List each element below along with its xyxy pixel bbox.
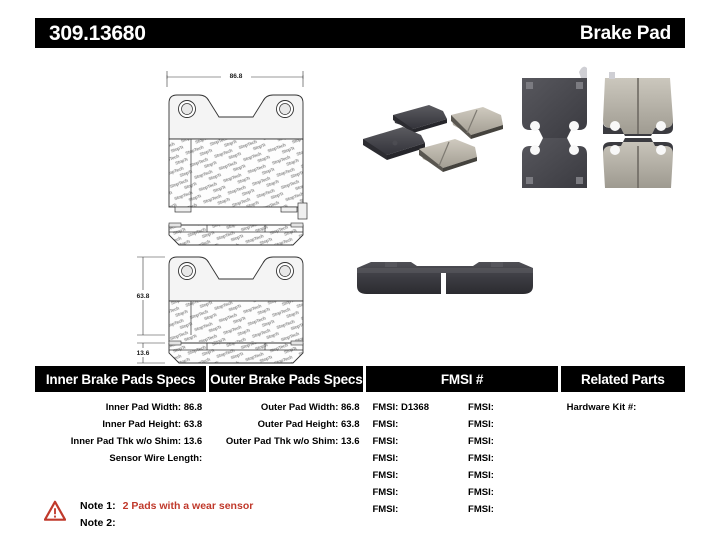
pad-edge-photo: [345, 242, 545, 322]
fmsi-row: FMSI:: [462, 399, 558, 416]
illustration-area: StopTech StopTech 86.8: [0, 52, 720, 352]
fmsi-row: FMSI:: [366, 467, 462, 484]
note-label: Note 2:: [80, 515, 116, 532]
inner-spec-row: Inner Pad Height: 63.8: [35, 416, 206, 433]
warning-triangle-icon: [44, 500, 66, 522]
fmsi-row: FMSI:: [462, 450, 558, 467]
fmsi-row: FMSI:: [366, 501, 462, 518]
fmsi-row: FMSI:: [462, 467, 558, 484]
column-header-related-parts: Related Parts: [561, 366, 685, 392]
related-parts-column: Hardware Kit #:: [561, 399, 685, 518]
outer-spec-row: Outer Pad Height: 63.8: [209, 416, 363, 433]
technical-drawings: StopTech StopTech 86.8: [95, 57, 325, 342]
fmsi-row: FMSI:: [366, 433, 462, 450]
pads-angled-photo: [355, 67, 515, 187]
fmsi-row: FMSI:: [462, 484, 558, 501]
header-bar: 309.13680 Brake Pad: [35, 18, 685, 48]
part-number: 309.13680: [49, 23, 146, 44]
outer-spec-row: Outer Pad Thk w/o Shim: 13.6: [209, 433, 363, 450]
edge-view-top: [169, 223, 303, 245]
inner-spec-row: Inner Pad Width: 86.8: [35, 399, 206, 416]
note-value: 2 Pads with a wear sensor: [123, 498, 254, 515]
fmsi-row: FMSI:: [462, 501, 558, 518]
specs-table: Inner Brake Pads Specs Outer Brake Pads …: [35, 366, 685, 518]
related-part-row: Hardware Kit #:: [561, 399, 685, 416]
fmsi-row: FMSI:: [462, 433, 558, 450]
page-title: Brake Pad: [580, 24, 671, 43]
notes-list: Note 1: 2 Pads with a wear sensor Note 2…: [80, 498, 253, 532]
note-label: Note 1:: [80, 498, 116, 515]
fmsi-subcolumn-right: FMSI: FMSI: FMSI: FMSI: FMSI: FMSI: FMSI…: [462, 399, 558, 518]
column-header-inner-specs: Inner Brake Pads Specs: [35, 366, 206, 392]
notes-area: Note 1: 2 Pads with a wear sensor Note 2…: [44, 498, 253, 532]
inner-spec-row: Sensor Wire Length:: [35, 450, 206, 467]
fmsi-column: FMSI: D1368 FMSI: FMSI: FMSI: FMSI: FMSI…: [366, 399, 557, 518]
inner-spec-row: Inner Pad Thk w/o Shim: 13.6: [35, 433, 206, 450]
fmsi-subcolumn-left: FMSI: D1368 FMSI: FMSI: FMSI: FMSI: FMSI…: [366, 399, 462, 518]
fmsi-row: FMSI:: [366, 484, 462, 501]
outer-spec-row: Outer Pad Width: 86.8: [209, 399, 363, 416]
column-header-fmsi: FMSI #: [366, 366, 557, 392]
pads-grid-photo: [505, 60, 695, 190]
fmsi-row: FMSI:: [366, 450, 462, 467]
dim-height-label: 63.8: [137, 293, 150, 300]
dim-thickness-label: 13.6: [137, 350, 150, 357]
fmsi-row: FMSI: D1368: [366, 399, 462, 416]
dim-width-label: 86.8: [230, 73, 243, 80]
note-item: Note 2:: [80, 515, 253, 532]
specs-table-header-row: Inner Brake Pads Specs Outer Brake Pads …: [35, 366, 685, 392]
front-view-top: 86.8: [167, 70, 307, 219]
column-header-outer-specs: Outer Brake Pads Specs: [209, 366, 363, 392]
fmsi-row: FMSI:: [462, 416, 558, 433]
fmsi-row: FMSI:: [366, 416, 462, 433]
note-item: Note 1: 2 Pads with a wear sensor: [80, 498, 253, 515]
